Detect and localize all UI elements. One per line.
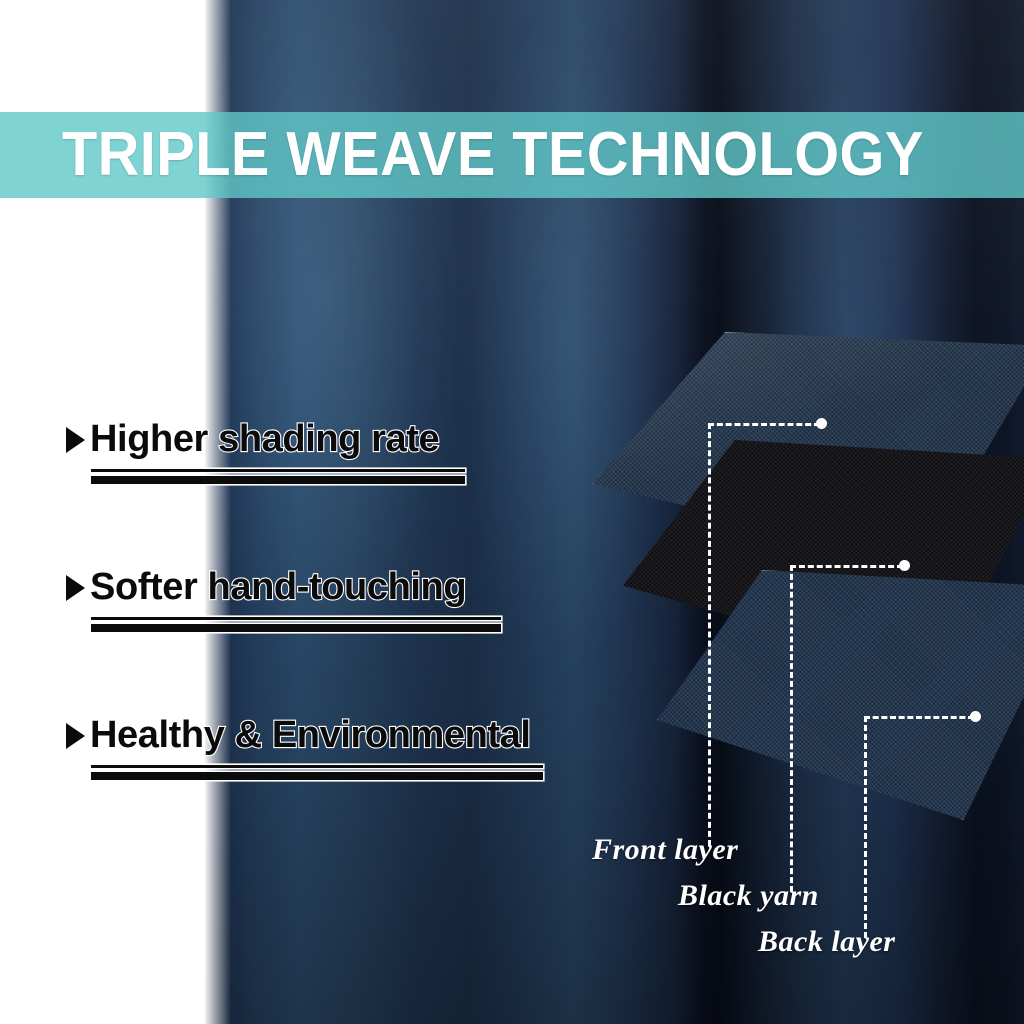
- feature-underline: [91, 765, 543, 780]
- triangle-right-icon: [66, 427, 85, 453]
- underline-thick-rule: [91, 624, 501, 632]
- triangle-right-icon: [66, 723, 85, 749]
- underline-thick-rule: [91, 476, 465, 484]
- underline-thick-rule: [91, 772, 543, 780]
- back-layer-leader-vertical: [864, 716, 867, 938]
- back-layer-leader-dot: [970, 711, 981, 722]
- back-layer-label: Back layer: [758, 925, 895, 959]
- title-banner: TRIPLE WEAVE TECHNOLOGY: [0, 112, 1024, 198]
- back-layer-leader-horizontal: [864, 716, 974, 719]
- black-yarn-label: Black yarn: [678, 879, 819, 913]
- black-yarn-leader-vertical: [790, 565, 793, 892]
- feature-label: Softer hand-touching: [90, 568, 466, 608]
- front-layer-label: Front layer: [592, 833, 738, 867]
- triangle-right-icon: [66, 575, 85, 601]
- black-yarn-leader-horizontal: [790, 565, 903, 568]
- product-feature-image: TRIPLE WEAVE TECHNOLOGY Higher shading r…: [0, 0, 1024, 1024]
- feature-underline: [91, 617, 501, 632]
- underline-thin-rule: [91, 617, 501, 620]
- feature-label: Healthy & Environmental: [90, 716, 531, 756]
- feature-item: Healthy & Environmental: [66, 716, 586, 780]
- feature-list: Higher shading rate Softer hand-touching…: [66, 420, 586, 864]
- fabric-layer-diagram: [575, 320, 1024, 850]
- feature-headline: Healthy & Environmental: [66, 716, 586, 756]
- front-layer-leader-dot: [816, 418, 827, 429]
- feature-label: Higher shading rate: [90, 420, 439, 460]
- feature-item: Softer hand-touching: [66, 568, 586, 632]
- feature-underline: [91, 469, 465, 484]
- feature-headline: Higher shading rate: [66, 420, 586, 460]
- banner-title: TRIPLE WEAVE TECHNOLOGY: [62, 124, 924, 186]
- front-layer-leader-horizontal: [708, 423, 820, 426]
- black-yarn-leader-dot: [899, 560, 910, 571]
- front-layer-leader-vertical: [708, 423, 711, 846]
- feature-item: Higher shading rate: [66, 420, 586, 484]
- underline-thin-rule: [91, 765, 543, 768]
- underline-thin-rule: [91, 469, 465, 472]
- feature-headline: Softer hand-touching: [66, 568, 586, 608]
